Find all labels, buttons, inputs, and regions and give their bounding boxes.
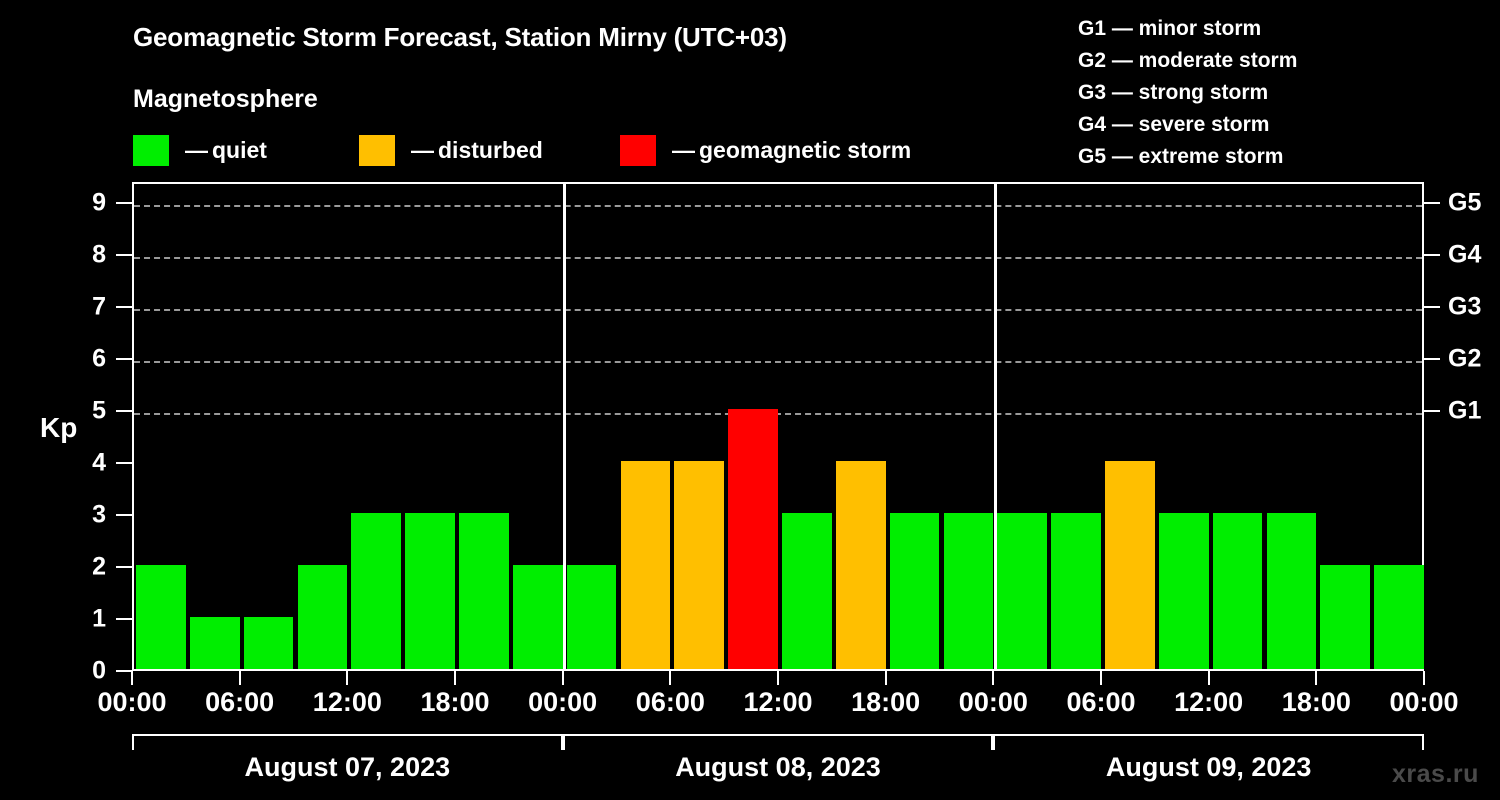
bar[interactable] (1159, 513, 1209, 669)
bar[interactable] (728, 409, 778, 669)
day-separator (994, 182, 997, 671)
date-label: August 07, 2023 (132, 754, 563, 781)
bar[interactable] (836, 461, 886, 669)
bar[interactable] (244, 617, 294, 669)
gscale-legend-line-1: G1 — minor storm (1078, 13, 1297, 45)
y-tick-label-3: 3 (66, 502, 106, 527)
bar[interactable] (782, 513, 832, 669)
date-bracket (132, 734, 563, 750)
y-tick-mark-3 (116, 514, 132, 516)
x-tick-mark (562, 671, 564, 685)
bar[interactable] (567, 565, 617, 669)
g-tick-label-G1: G1 (1448, 398, 1481, 423)
y-tick-label-1: 1 (66, 606, 106, 631)
storm-swatch (620, 135, 656, 166)
x-tick-label: 12:00 (313, 689, 382, 716)
bar[interactable] (1267, 513, 1317, 669)
date-bracket (993, 734, 1424, 750)
section-label-magnetosphere: Magnetosphere (133, 85, 318, 114)
x-tick-label: 12:00 (1174, 689, 1243, 716)
y-tick-label-0: 0 (66, 659, 106, 684)
watermark: xras.ru (1392, 762, 1479, 787)
g-tick-label-G4: G4 (1448, 242, 1481, 267)
bar[interactable] (944, 513, 994, 669)
y-tick-mark-4 (116, 462, 132, 464)
legend-item-geomagnetic-storm[interactable]: —geomagnetic storm (620, 134, 911, 166)
y-tick-mark-8 (116, 254, 132, 256)
x-tick-mark (346, 671, 348, 685)
bar[interactable] (136, 565, 186, 669)
g-tick-label-G5: G5 (1448, 190, 1481, 215)
page-title: Geomagnetic Storm Forecast, Station Mirn… (133, 22, 787, 53)
legend-label: disturbed (438, 139, 543, 162)
x-tick-label: 18:00 (1282, 689, 1351, 716)
x-tick-label: 06:00 (1066, 689, 1135, 716)
gridline-kp-5 (134, 413, 1422, 415)
quiet-swatch (133, 135, 169, 166)
gscale-legend-line-4: G4 — severe storm (1078, 109, 1297, 141)
plot-inner (134, 184, 1422, 669)
date-label: August 08, 2023 (563, 754, 994, 781)
bar[interactable] (1051, 513, 1101, 669)
bar[interactable] (513, 565, 563, 669)
bar[interactable] (459, 513, 509, 669)
x-tick-label: 00:00 (528, 689, 597, 716)
day-separator (563, 182, 566, 671)
gscale-legend-line-3: G3 — strong storm (1078, 77, 1297, 109)
gscale-legend: G1 — minor stormG2 — moderate stormG3 — … (1078, 13, 1297, 173)
g-tick-mark-G2 (1424, 358, 1440, 360)
x-tick-label: 18:00 (851, 689, 920, 716)
x-tick-label: 00:00 (97, 689, 166, 716)
legend-item-disturbed[interactable]: —disturbed (359, 134, 543, 166)
g-tick-mark-G1 (1424, 410, 1440, 412)
x-tick-label: 06:00 (636, 689, 705, 716)
x-tick-label: 12:00 (743, 689, 812, 716)
y-tick-label-2: 2 (66, 554, 106, 579)
y-tick-label-6: 6 (66, 346, 106, 371)
bar[interactable] (351, 513, 401, 669)
x-tick-mark (777, 671, 779, 685)
date-bracket (563, 734, 994, 750)
y-tick-label-8: 8 (66, 242, 106, 267)
legend-dash: — (411, 139, 434, 162)
gridline-kp-6 (134, 361, 1422, 363)
bar[interactable] (190, 617, 240, 669)
bar[interactable] (405, 513, 455, 669)
gscale-legend-line-5: G5 — extreme storm (1078, 141, 1297, 173)
x-tick-mark (669, 671, 671, 685)
x-tick-mark (1208, 671, 1210, 685)
y-tick-mark-9 (116, 202, 132, 204)
x-tick-mark (1315, 671, 1317, 685)
x-tick-mark (1423, 671, 1425, 685)
disturbed-swatch (359, 135, 395, 166)
y-tick-mark-5 (116, 410, 132, 412)
y-tick-mark-2 (116, 566, 132, 568)
bar[interactable] (1105, 461, 1155, 669)
gridline-kp-7 (134, 309, 1422, 311)
y-tick-mark-1 (116, 618, 132, 620)
x-tick-mark (131, 671, 133, 685)
g-tick-mark-G4 (1424, 254, 1440, 256)
x-tick-label: 00:00 (1389, 689, 1458, 716)
x-tick-label: 00:00 (959, 689, 1028, 716)
bar[interactable] (621, 461, 671, 669)
y-tick-mark-7 (116, 306, 132, 308)
plot-area (132, 182, 1424, 671)
bar[interactable] (890, 513, 940, 669)
x-tick-label: 18:00 (420, 689, 489, 716)
gridline-kp-8 (134, 257, 1422, 259)
bar[interactable] (674, 461, 724, 669)
bar[interactable] (1374, 565, 1424, 669)
chart-root: Geomagnetic Storm Forecast, Station Mirn… (0, 0, 1500, 800)
y-tick-mark-0 (116, 670, 132, 672)
g-tick-label-G2: G2 (1448, 346, 1481, 371)
g-tick-mark-G5 (1424, 202, 1440, 204)
g-tick-mark-G3 (1424, 306, 1440, 308)
legend-label: geomagnetic storm (699, 139, 911, 162)
legend-label: quiet (212, 139, 267, 162)
x-tick-mark (1100, 671, 1102, 685)
legend-dash: — (185, 139, 208, 162)
x-tick-label: 06:00 (205, 689, 274, 716)
bar[interactable] (997, 513, 1047, 669)
x-tick-mark (992, 671, 994, 685)
g-tick-label-G3: G3 (1448, 294, 1481, 319)
bar[interactable] (1213, 513, 1263, 669)
legend-dash: — (672, 139, 695, 162)
date-label: August 09, 2023 (993, 754, 1424, 781)
legend-item-quiet[interactable]: —quiet (133, 134, 267, 166)
y-tick-label-7: 7 (66, 294, 106, 319)
x-tick-mark (239, 671, 241, 685)
gridline-kp-9 (134, 205, 1422, 207)
y-tick-mark-6 (116, 358, 132, 360)
y-tick-label-4: 4 (66, 450, 106, 475)
x-tick-mark (885, 671, 887, 685)
gscale-legend-line-2: G2 — moderate storm (1078, 45, 1297, 77)
x-tick-mark (454, 671, 456, 685)
y-tick-label-5: 5 (66, 398, 106, 423)
y-tick-label-9: 9 (66, 190, 106, 215)
bar[interactable] (298, 565, 348, 669)
bar[interactable] (1320, 565, 1370, 669)
